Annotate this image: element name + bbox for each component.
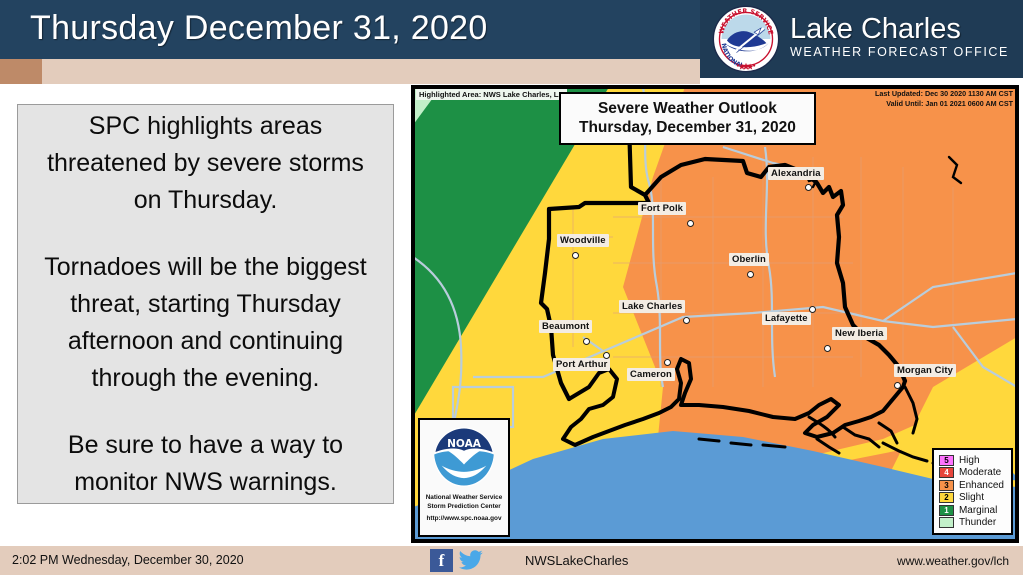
city-marker-fort-polk (687, 220, 694, 227)
city-label-new-iberia: New Iberia (832, 327, 887, 340)
legend-row-moderate: 4 Moderate (939, 467, 1004, 480)
city-marker-beaumont (583, 338, 590, 345)
footer-timestamp: 2:02 PM Wednesday, December 30, 2020 (12, 553, 244, 567)
header-tan-band (0, 59, 700, 84)
message-panel: SPC highlights areas threatened by sever… (17, 104, 394, 504)
office-subtitle: WEATHER FORECAST OFFICE (790, 44, 1009, 60)
footer-social-handle: NWSLakeCharles (525, 553, 628, 568)
office-branding: Lake Charles WEATHER FORECAST OFFICE (790, 14, 1009, 60)
header-accent-block (0, 59, 42, 84)
legend-swatch-thunder (939, 517, 954, 528)
city-label-fort-polk: Fort Polk (638, 202, 686, 215)
city-label-alexandria: Alexandria (768, 167, 824, 180)
map-validity-note: Last Updated: Dec 30 2020 1130 AM CST Va… (875, 89, 1013, 108)
spc-line-1: National Weather Service (420, 493, 508, 502)
legend-label-slight: Slight (959, 492, 984, 503)
message-paragraph-3: Be sure to have a way to monitor NWS war… (32, 427, 379, 501)
city-label-oberlin: Oberlin (729, 253, 769, 266)
legend-label-high: High (959, 455, 980, 466)
legend-swatch-high: 5 (939, 455, 954, 466)
legend-row-high: 5 High (939, 454, 1004, 467)
city-label-lake-charles: Lake Charles (619, 300, 685, 313)
legend-swatch-moderate: 4 (939, 467, 954, 478)
city-label-morgan-city: Morgan City (894, 364, 956, 377)
city-marker-lafayette (809, 306, 816, 313)
legend-swatch-enhanced: 3 (939, 480, 954, 491)
legend-row-thunder: Thunder (939, 517, 1004, 530)
city-marker-new-iberia (824, 345, 831, 352)
legend-label-enhanced: Enhanced (959, 480, 1004, 491)
twitter-icon[interactable] (458, 550, 483, 571)
city-marker-port-arthur (603, 352, 610, 359)
weather-graphic: Thursday December 31, 2020 WEATHER SERVI… (0, 0, 1023, 575)
message-paragraph-1: SPC highlights areas threatened by sever… (32, 108, 379, 219)
legend-label-thunder: Thunder (959, 517, 996, 528)
map-title-line2: Thursday, December 31, 2020 (579, 118, 796, 137)
city-label-cameron: Cameron (627, 368, 675, 381)
city-label-port-arthur: Port Arthur (553, 358, 610, 371)
spc-url[interactable]: http://www.spc.noaa.gov (420, 515, 508, 522)
spc-logo-box: NOAA National Weather Service Storm Pred… (418, 418, 510, 537)
legend-label-marginal: Marginal (959, 505, 997, 516)
map-last-updated: Last Updated: Dec 30 2020 1130 AM CST (875, 89, 1013, 99)
noaa-logo-icon: NOAA (433, 426, 495, 488)
city-marker-lake-charles (683, 317, 690, 324)
city-marker-woodville (572, 252, 579, 259)
legend-label-moderate: Moderate (959, 467, 1001, 478)
legend-row-marginal: 1 Marginal (939, 504, 1004, 517)
severe-weather-outlook-map: Highlighted Area: NWS Lake Charles, LA L… (411, 85, 1019, 543)
legend-row-slight: 2 Slight (939, 492, 1004, 505)
office-name: Lake Charles (790, 14, 1009, 44)
city-label-lafayette: Lafayette (762, 312, 811, 325)
footer-bar: 2:02 PM Wednesday, December 30, 2020 NWS… (0, 546, 1023, 575)
city-marker-alexandria (805, 184, 812, 191)
facebook-icon[interactable]: f (430, 549, 453, 572)
city-marker-cameron (664, 359, 671, 366)
legend-swatch-slight: 2 (939, 492, 954, 503)
city-label-beaumont: Beaumont (539, 320, 592, 333)
footer-website[interactable]: www.weather.gov/lch (897, 554, 1009, 568)
page-title: Thursday December 31, 2020 (30, 9, 488, 48)
spc-line-2: Storm Prediction Center (420, 502, 508, 511)
outlook-legend: 5 High 4 Moderate 3 Enhanced 2 Slight 1 … (932, 448, 1013, 535)
noaa-wordmark: NOAA (447, 438, 482, 450)
map-title-box: Severe Weather Outlook Thursday, Decembe… (559, 92, 816, 145)
legend-row-enhanced: 3 Enhanced (939, 479, 1004, 492)
message-paragraph-2: Tornadoes will be the biggest threat, st… (32, 249, 379, 397)
legend-swatch-marginal: 1 (939, 505, 954, 516)
map-title-line1: Severe Weather Outlook (579, 99, 796, 118)
map-valid-until: Valid Until: Jan 01 2021 0600 AM CST (875, 99, 1013, 109)
city-marker-morgan-city (894, 382, 901, 389)
nws-seal-icon: WEATHER SERVICE NATIONAL (712, 5, 780, 73)
city-marker-oberlin (747, 271, 754, 278)
city-label-woodville: Woodville (557, 234, 609, 247)
map-highlight-note: Highlighted Area: NWS Lake Charles, LA (416, 89, 567, 100)
